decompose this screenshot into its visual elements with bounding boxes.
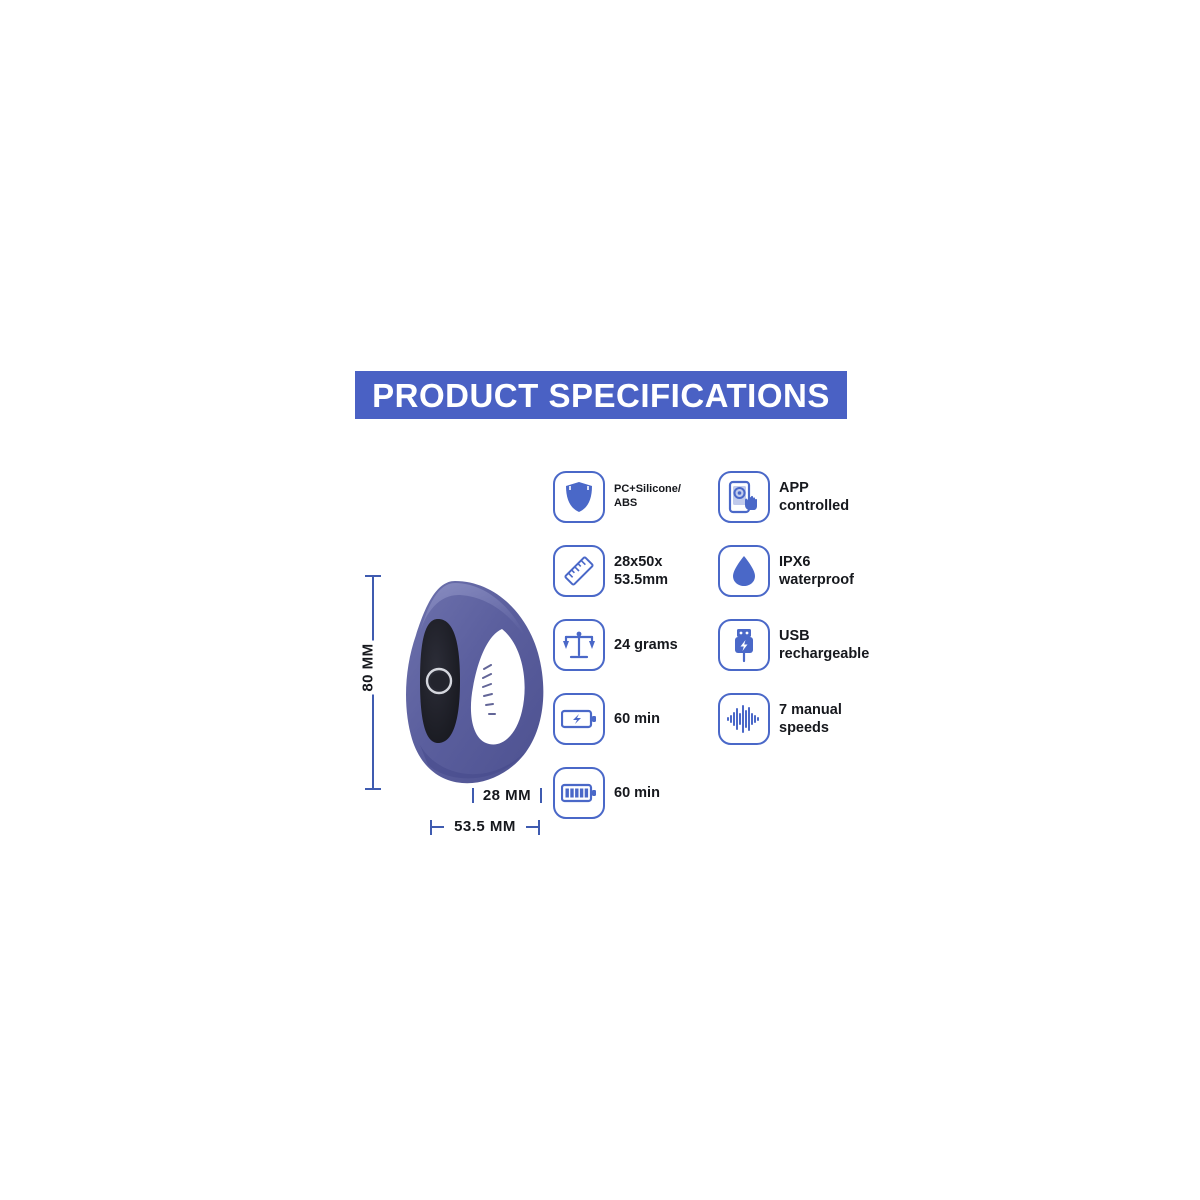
height-dimension-cap-top — [365, 575, 381, 577]
spec-label: 28x50x 53.5mm — [614, 553, 668, 590]
header-banner: PRODUCT SPECIFICATIONS — [355, 371, 847, 419]
spec-label: 24 grams — [614, 636, 678, 654]
app-phone-touch-icon — [718, 471, 770, 523]
width-dimension: 53.5 MM — [430, 817, 540, 837]
spec-label: IPX6 waterproof — [779, 553, 854, 590]
spec-column-right: IPX6 waterproof — [718, 534, 883, 608]
product-photo — [398, 577, 548, 789]
spec-item-run-time: 60 min — [553, 767, 660, 819]
battery-charging-icon — [553, 693, 605, 745]
waveform-icon — [718, 693, 770, 745]
ruler-icon — [553, 545, 605, 597]
spec-item-weight: 24 grams — [553, 619, 678, 671]
depth-dimension-label: 28 MM — [472, 787, 542, 804]
spec-column-left: PC+Silicone/ ABS — [553, 460, 718, 534]
height-dimension-cap-bottom — [365, 788, 381, 790]
spec-column-right: APP controlled — [718, 460, 883, 534]
spec-item-size: 28x50x 53.5mm — [553, 545, 668, 597]
spec-row: 28x50x 53.5mm IPX6 waterproof — [553, 534, 883, 608]
shield-icon — [553, 471, 605, 523]
spec-item-waterproof: IPX6 waterproof — [718, 545, 854, 597]
spec-column-left: 60 min — [553, 756, 718, 830]
usb-plug-icon — [718, 619, 770, 671]
product-figure: 80 MM — [360, 565, 560, 840]
spec-column-left: 60 min — [553, 682, 718, 756]
battery-full-icon — [553, 767, 605, 819]
spec-item-app-controlled: APP controlled — [718, 471, 849, 523]
balance-scales-icon — [553, 619, 605, 671]
spec-label: PC+Silicone/ ABS — [614, 483, 681, 511]
spec-row: 24 grams USB rechargeable — [553, 608, 883, 682]
spec-item-material: PC+Silicone/ ABS — [553, 471, 681, 523]
width-dimension-label: 53.5 MM — [430, 818, 540, 835]
spec-label: 60 min — [614, 710, 660, 728]
specification-grid: PC+Silicone/ ABS APP controlled — [553, 460, 883, 830]
spec-label: 60 min — [614, 784, 660, 802]
spec-item-manual-speeds: 7 manual speeds — [718, 693, 842, 745]
spec-label: USB rechargeable — [779, 627, 869, 664]
depth-dimension: 28 MM — [472, 787, 542, 807]
spec-column-right: 7 manual speeds — [718, 682, 883, 756]
spec-column-right — [718, 756, 883, 830]
water-drop-icon — [718, 545, 770, 597]
spec-item-charge-time: 60 min — [553, 693, 660, 745]
spec-column-left: 28x50x 53.5mm — [553, 534, 718, 608]
spec-column-right: USB rechargeable — [718, 608, 883, 682]
page-title: PRODUCT SPECIFICATIONS — [372, 379, 830, 412]
spec-label: APP controlled — [779, 479, 849, 516]
spec-row: PC+Silicone/ ABS APP controlled — [553, 460, 883, 534]
spec-label: 7 manual speeds — [779, 701, 842, 738]
spec-item-usb-rechargeable: USB rechargeable — [718, 619, 869, 671]
spec-column-left: 24 grams — [553, 608, 718, 682]
spec-row: 60 min — [553, 756, 883, 830]
height-dimension-label: 80 MM — [358, 641, 379, 695]
spec-row: 60 min — [553, 682, 883, 756]
